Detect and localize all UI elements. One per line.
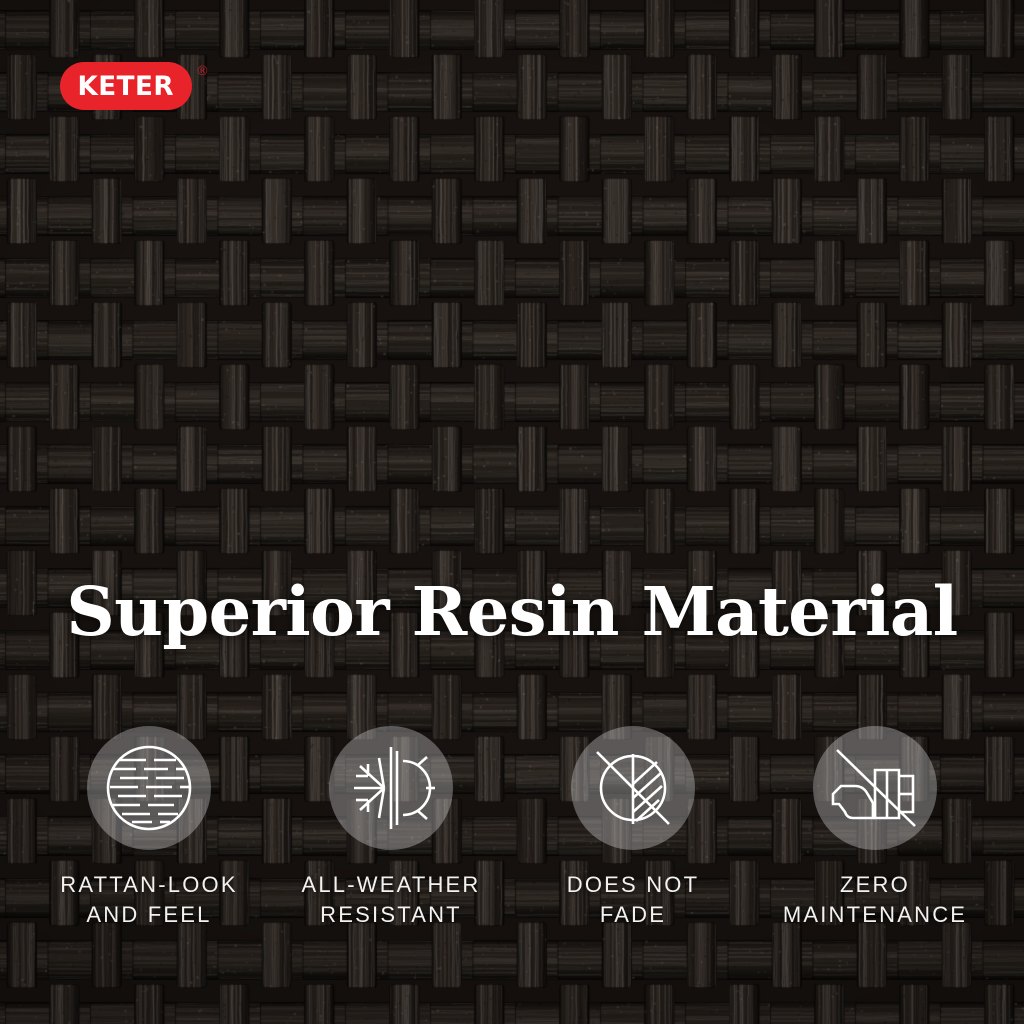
feature-caption: RATTAN-LOOK AND FEEL [60, 870, 237, 929]
feature-badge [571, 726, 695, 850]
keter-logo: KETER ® [60, 62, 240, 118]
feature-badge [329, 726, 453, 850]
leaf-no-fade-icon [589, 744, 677, 832]
feature-list: RATTAN-LOOK AND FEEL [28, 726, 996, 929]
no-paint-brush-icon [829, 748, 921, 828]
feature-caption: ALL-WEATHER RESISTANT [301, 870, 480, 929]
product-feature-banner: KETER ® Superior Resin Material [0, 0, 1024, 1024]
feature-caption: ZERO MAINTENANCE [783, 870, 967, 929]
logo-wordmark: KETER [78, 73, 175, 100]
feature-does-not-fade: DOES NOT FADE [512, 726, 754, 929]
logo-pill-shape: KETER [60, 62, 192, 110]
feature-rattan-look: RATTAN-LOOK AND FEEL [28, 726, 270, 929]
feature-badge [87, 726, 211, 850]
page-title: Superior Resin Material [0, 578, 1024, 645]
rattan-weave-icon [106, 745, 192, 831]
feature-caption: DOES NOT FADE [567, 870, 700, 929]
feature-all-weather: ALL-WEATHER RESISTANT [270, 726, 512, 929]
feature-badge [813, 726, 937, 850]
feature-zero-maintenance: ZERO MAINTENANCE [754, 726, 996, 929]
snowflake-sun-icon [346, 745, 436, 831]
registered-trademark-icon: ® [196, 64, 209, 79]
